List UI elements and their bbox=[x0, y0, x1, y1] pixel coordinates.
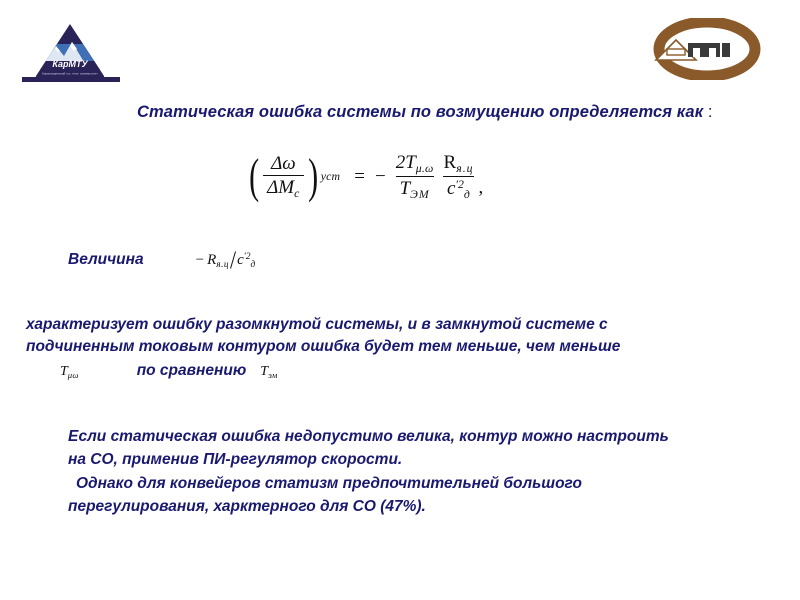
main-formula: ( Δω ΔMc )уст = − 2Tμ.ω TЭМ Rя.ц c′2д , bbox=[246, 152, 483, 201]
velichina-label: Величина bbox=[68, 251, 144, 269]
paren-open: ( bbox=[249, 157, 259, 197]
symbol-t-mu-omega: Tμω bbox=[60, 364, 79, 380]
karmtu-acronym: КарМТУ bbox=[52, 59, 88, 69]
slide-heading: Статическая ошибка системы по возмущению… bbox=[137, 103, 777, 122]
karmtu-logo: КарМТУ Карагандинский гос. техн. универс… bbox=[34, 22, 106, 80]
heading-text: Статическая ошибка системы по возмущению… bbox=[137, 103, 703, 121]
velichina-numerator: Rя.ц bbox=[207, 252, 229, 270]
paragraph-middle-line-2: подчиненным токовым контуром ошибка буде… bbox=[26, 338, 620, 355]
slide-canvas: КарМТУ Карагандинский гос. техн. универс… bbox=[0, 0, 800, 600]
velichina-minus: − bbox=[196, 252, 204, 269]
paragraph-middle: характеризует ошибку разомкнутой системы… bbox=[26, 314, 776, 358]
velichina-slash: / bbox=[229, 246, 237, 275]
term1-fraction: 2Tμ.ω TЭМ bbox=[392, 152, 438, 201]
paragraph-bottom-line-3: Однако для конвейеров статизм предпочтит… bbox=[68, 472, 783, 495]
term1-denominator: TЭМ bbox=[396, 176, 434, 201]
formula-comma: , bbox=[479, 177, 484, 201]
velichina-row: Величина − Rя.ц / c′2д bbox=[68, 248, 255, 273]
app-logo bbox=[652, 18, 762, 80]
heading-trailing: : bbox=[703, 103, 712, 121]
lhs-denominator: ΔMc bbox=[263, 175, 303, 200]
karmtu-subtitle: Карагандинский гос. техн. университет bbox=[42, 72, 98, 76]
term2-fraction: Rя.ц c′2д bbox=[440, 152, 478, 201]
lhs-numerator: Δω bbox=[267, 153, 300, 175]
app-ellipse-icon bbox=[652, 18, 762, 80]
lhs-outer-subscript: уст bbox=[321, 170, 341, 184]
header-divider-rule bbox=[22, 77, 120, 82]
term2-denominator: c′2д bbox=[443, 176, 474, 201]
compare-label: по сравнению bbox=[137, 362, 247, 380]
symbol-t-em: Tэм bbox=[260, 364, 277, 380]
compare-row: Tμω по сравнению Tэм bbox=[60, 362, 277, 380]
equals-sign: = bbox=[354, 166, 365, 188]
paren-close: ) bbox=[308, 157, 318, 197]
term2-numerator: Rя.ц bbox=[440, 152, 478, 176]
paragraph-middle-line-1: характеризует ошибку разомкнутой системы… bbox=[26, 316, 608, 333]
karmtu-triangle-icon: КарМТУ Карагандинский гос. техн. универс… bbox=[34, 22, 106, 80]
velichina-denominator: c′2д bbox=[237, 252, 255, 270]
paragraph-bottom-line-1: Если статическая ошибка недопустимо вели… bbox=[68, 425, 783, 448]
paragraph-bottom-line-4: перегулирования, харктерного для СО (47%… bbox=[68, 495, 783, 518]
lhs-fraction: Δω ΔMc bbox=[263, 153, 303, 200]
term1-numerator: 2Tμ.ω bbox=[392, 152, 438, 176]
paragraph-bottom-line-2: на СО, применив ПИ-регулятор скорости. bbox=[68, 448, 783, 471]
velichina-slash-fraction: Rя.ц / c′2д bbox=[207, 248, 255, 273]
minus-sign: − bbox=[375, 166, 386, 188]
paragraph-bottom: Если статическая ошибка недопустимо вели… bbox=[68, 425, 783, 518]
velichina-formula: − Rя.ц / c′2д bbox=[196, 248, 256, 273]
